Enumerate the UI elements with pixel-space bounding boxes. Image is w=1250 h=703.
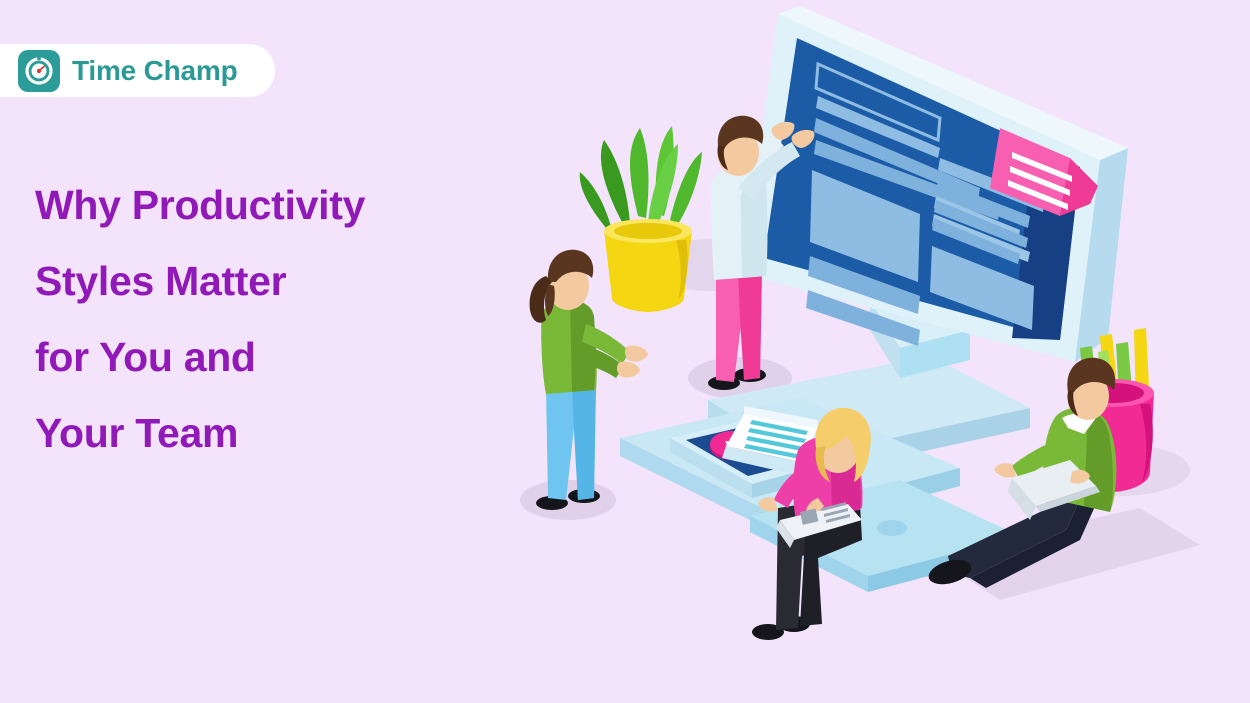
- brand-name: Time Champ: [72, 55, 238, 87]
- headline-line-1: Why Productivity: [35, 168, 555, 244]
- headline-line-2: Styles Matter: [35, 244, 555, 320]
- headline-line-4: Your Team: [35, 396, 555, 472]
- headline-line-3: for You and: [35, 320, 555, 396]
- snake-plant-in-yellow-pot: [580, 126, 702, 312]
- brand-logo-badge[interactable]: Time Champ: [0, 44, 275, 97]
- page-title: Why Productivity Styles Matter for You a…: [35, 168, 555, 471]
- stopwatch-gauge-icon: [18, 50, 60, 92]
- hero-illustration: [500, 0, 1250, 703]
